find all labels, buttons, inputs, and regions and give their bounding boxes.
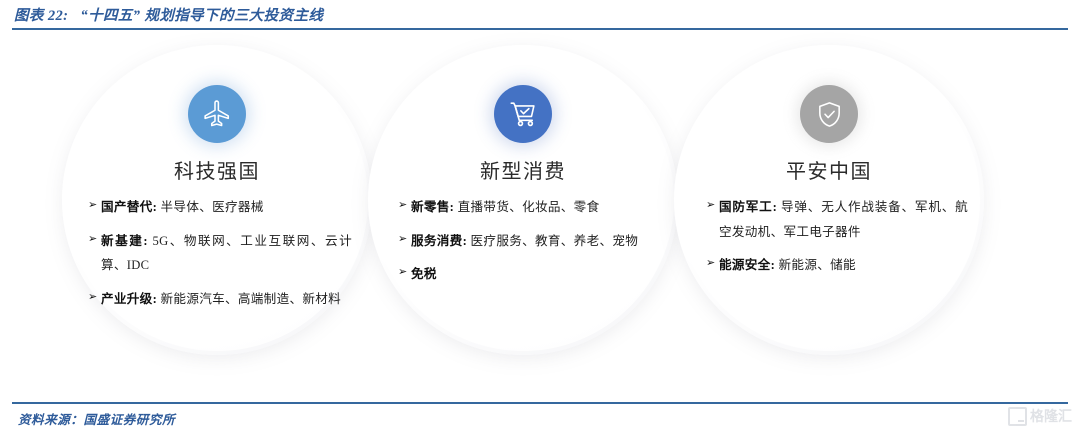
source-note: 资料来源：国盛证券研究所 [18, 409, 175, 428]
watermark-text: 格隆汇 [1030, 406, 1072, 426]
shield-check-icon [815, 100, 844, 129]
figure-label: 图表 22: [14, 8, 68, 24]
list-item: ➢服务消费: 医疗服务、教育、养老、宠物 [398, 229, 660, 254]
page-title: 图表 22: “十四五” 规划指导下的三大投资主线 [14, 4, 323, 25]
list-item: ➢新零售: 直播带货、化妆品、零食 [398, 195, 660, 220]
shield-check-icon-badge [800, 85, 858, 143]
bullet-list-consumption: ➢新零售: 直播带货、化妆品、零食 ➢服务消费: 医疗服务、教育、养老、宠物 ➢… [370, 195, 676, 296]
airplane-icon [202, 99, 232, 129]
list-item-term: 免税 [411, 267, 437, 281]
bullet-arrow-icon: ➢ [88, 229, 98, 250]
bullet-arrow-icon: ➢ [398, 262, 408, 283]
bullet-arrow-icon: ➢ [706, 253, 716, 274]
gelonghui-logo-icon [1008, 407, 1027, 426]
bullet-list-security: ➢国防军工: 导弹、无人作战装备、军机、航空发动机、军工电子器件 ➢能源安全: … [676, 195, 982, 287]
bullet-arrow-icon: ➢ [398, 195, 408, 216]
list-item-term: 新基建: [101, 234, 148, 248]
column-title-consumption: 新型消费 [370, 155, 676, 184]
list-item-term: 国产替代: [101, 200, 157, 214]
watermark: 格隆汇 [1008, 406, 1072, 426]
bullet-list-tech: ➢国产替代: 半导体、医疗器械 ➢新基建: 5G、物联网、工业互联网、云计算、I… [64, 195, 370, 320]
airplane-icon-badge [188, 85, 246, 143]
column-title-security: 平安中国 [676, 155, 982, 184]
list-item: ➢免税 [398, 262, 660, 287]
bullet-arrow-icon: ➢ [706, 195, 716, 216]
footer-divider [12, 402, 1068, 404]
header-divider [12, 28, 1068, 30]
list-item-term: 能源安全: [719, 258, 775, 272]
list-item-term: 国防军工: [719, 200, 777, 214]
list-item-term: 产业升级: [101, 292, 157, 306]
figure-header: 图表 22: “十四五” 规划指导下的三大投资主线 [0, 0, 1080, 31]
list-item: ➢产业升级: 新能源汽车、高端制造、新材料 [88, 287, 352, 312]
list-item: ➢国产替代: 半导体、医疗器械 [88, 195, 352, 220]
figure-footer: 资料来源：国盛证券研究所 [0, 402, 1080, 437]
theme-column-consumption: 新型消费 ➢新零售: 直播带货、化妆品、零食 ➢服务消费: 医疗服务、教育、养老… [370, 31, 676, 402]
list-item-term: 新零售: [411, 200, 454, 214]
theme-column-tech: 科技强国 ➢国产替代: 半导体、医疗器械 ➢新基建: 5G、物联网、工业互联网、… [64, 31, 370, 402]
bullet-arrow-icon: ➢ [88, 195, 98, 216]
list-item: ➢新基建: 5G、物联网、工业互联网、云计算、IDC [88, 229, 352, 278]
shopping-cart-check-icon [508, 99, 538, 129]
list-item-desc: 新能源汽车、高端制造、新材料 [161, 292, 342, 306]
list-item-desc: 直播带货、化妆品、零食 [458, 200, 600, 214]
list-item: ➢能源安全: 新能源、储能 [706, 253, 968, 278]
figure-canvas: 科技强国 ➢国产替代: 半导体、医疗器械 ➢新基建: 5G、物联网、工业互联网、… [0, 31, 1080, 402]
bullet-arrow-icon: ➢ [88, 287, 98, 308]
list-item-term: 服务消费: [411, 234, 467, 248]
list-item-desc: 医疗服务、教育、养老、宠物 [471, 234, 639, 248]
shopping-cart-check-icon-badge [494, 85, 552, 143]
theme-column-security: 平安中国 ➢国防军工: 导弹、无人作战装备、军机、航空发动机、军工电子器件 ➢能… [676, 31, 982, 402]
column-title-tech: 科技强国 [64, 155, 370, 184]
bullet-arrow-icon: ➢ [398, 229, 408, 250]
list-item-desc: 新能源、储能 [779, 258, 856, 272]
list-item: ➢国防军工: 导弹、无人作战装备、军机、航空发动机、军工电子器件 [706, 195, 968, 244]
list-item-desc: 半导体、医疗器械 [161, 200, 264, 214]
figure-title-text: “十四五” 规划指导下的三大投资主线 [80, 8, 323, 24]
